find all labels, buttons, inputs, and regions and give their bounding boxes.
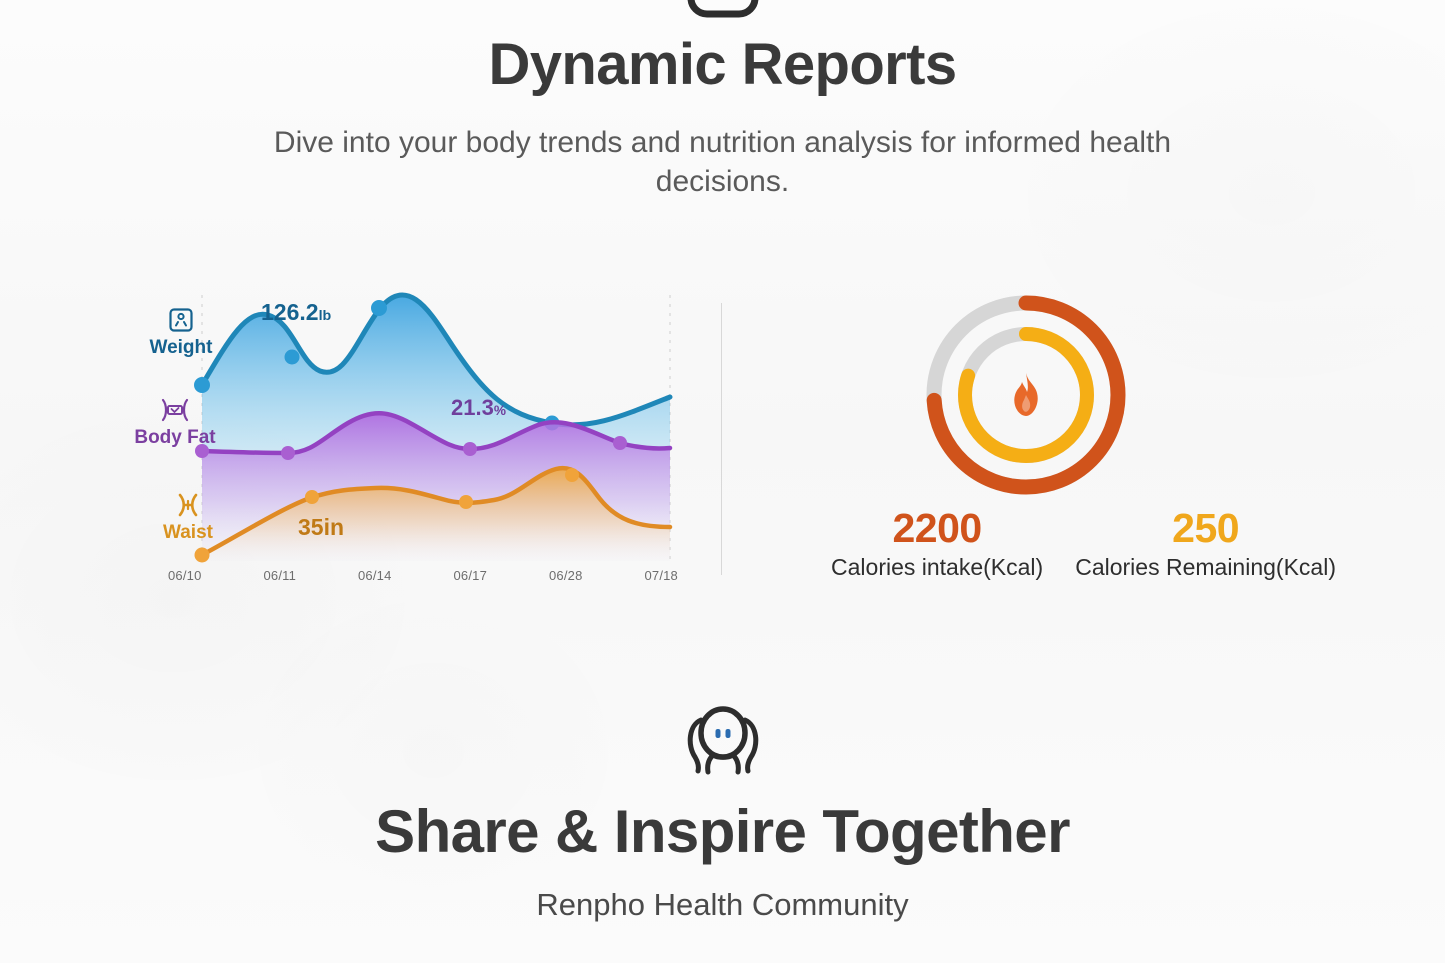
community-section: Share & Inspire Together Renpho Health C… [0,705,1445,923]
legend-weight: Weight [116,307,246,359]
legend-bodyfat-label: Body Fat [134,427,215,448]
body-fat-icon [158,397,192,423]
waist-icon [173,492,203,518]
header: Dynamic Reports Dive into your body tren… [0,34,1445,202]
legend-weight-label: Weight [150,337,213,358]
mascot-octopus-icon [677,705,769,777]
calorie-rings [916,285,1136,505]
community-title: Share & Inspire Together [0,799,1445,865]
calorie-intake-value: 2200 [831,507,1043,550]
legend-waist: Waist [123,492,253,544]
x-tick: 06/28 [549,568,583,583]
calorie-remaining-caption: Calories Remaining(Kcal) [1075,554,1336,581]
waist-callout: 35in [298,514,344,541]
x-tick: 06/14 [358,568,392,583]
bodyfat-callout-value: 21.3 [451,395,494,420]
weight-callout: 126.2lb [261,299,331,326]
calorie-stats: 2200 Calories intake(Kcal) 250 Calories … [722,507,1445,581]
waist-callout-value: 35 [298,514,324,540]
calories-panel: 2200 Calories intake(Kcal) 250 Calories … [722,285,1445,615]
community-subtitle: Renpho Health Community [0,887,1445,923]
calorie-intake-caption: Calories intake(Kcal) [831,554,1043,581]
scale-icon [168,307,194,333]
flame-icon [1007,372,1045,418]
page-root: Dynamic Reports Dive into your body tren… [0,0,1445,963]
reports-panel: Weight Body Fat [0,285,1445,625]
chart-x-axis: 06/10 06/11 06/14 06/17 06/28 07/18 [168,568,678,583]
weight-callout-value: 126.2 [261,299,319,325]
page-title: Dynamic Reports [0,34,1445,97]
body-trend-chart: Weight Body Fat [0,285,722,615]
weight-callout-unit: lb [319,308,332,324]
waist-callout-unit: in [324,514,344,540]
top-rounded-rect-icon [675,0,771,18]
bodyfat-callout-unit: % [494,403,506,418]
calorie-stat-intake: 2200 Calories intake(Kcal) [831,507,1043,581]
page-subtitle: Dive into your body trends and nutrition… [243,123,1203,202]
calorie-stat-remaining: 250 Calories Remaining(Kcal) [1075,507,1336,581]
bodyfat-callout: 21.3% [451,395,506,421]
x-tick: 06/17 [453,568,487,583]
x-tick: 06/10 [168,568,202,583]
x-tick: 06/11 [263,568,296,583]
legend-bodyfat: Body Fat [110,397,240,449]
x-tick: 07/18 [644,568,678,583]
legend-waist-label: Waist [163,522,213,543]
trend-chart-svg [0,285,722,615]
calorie-remaining-value: 250 [1075,507,1336,550]
